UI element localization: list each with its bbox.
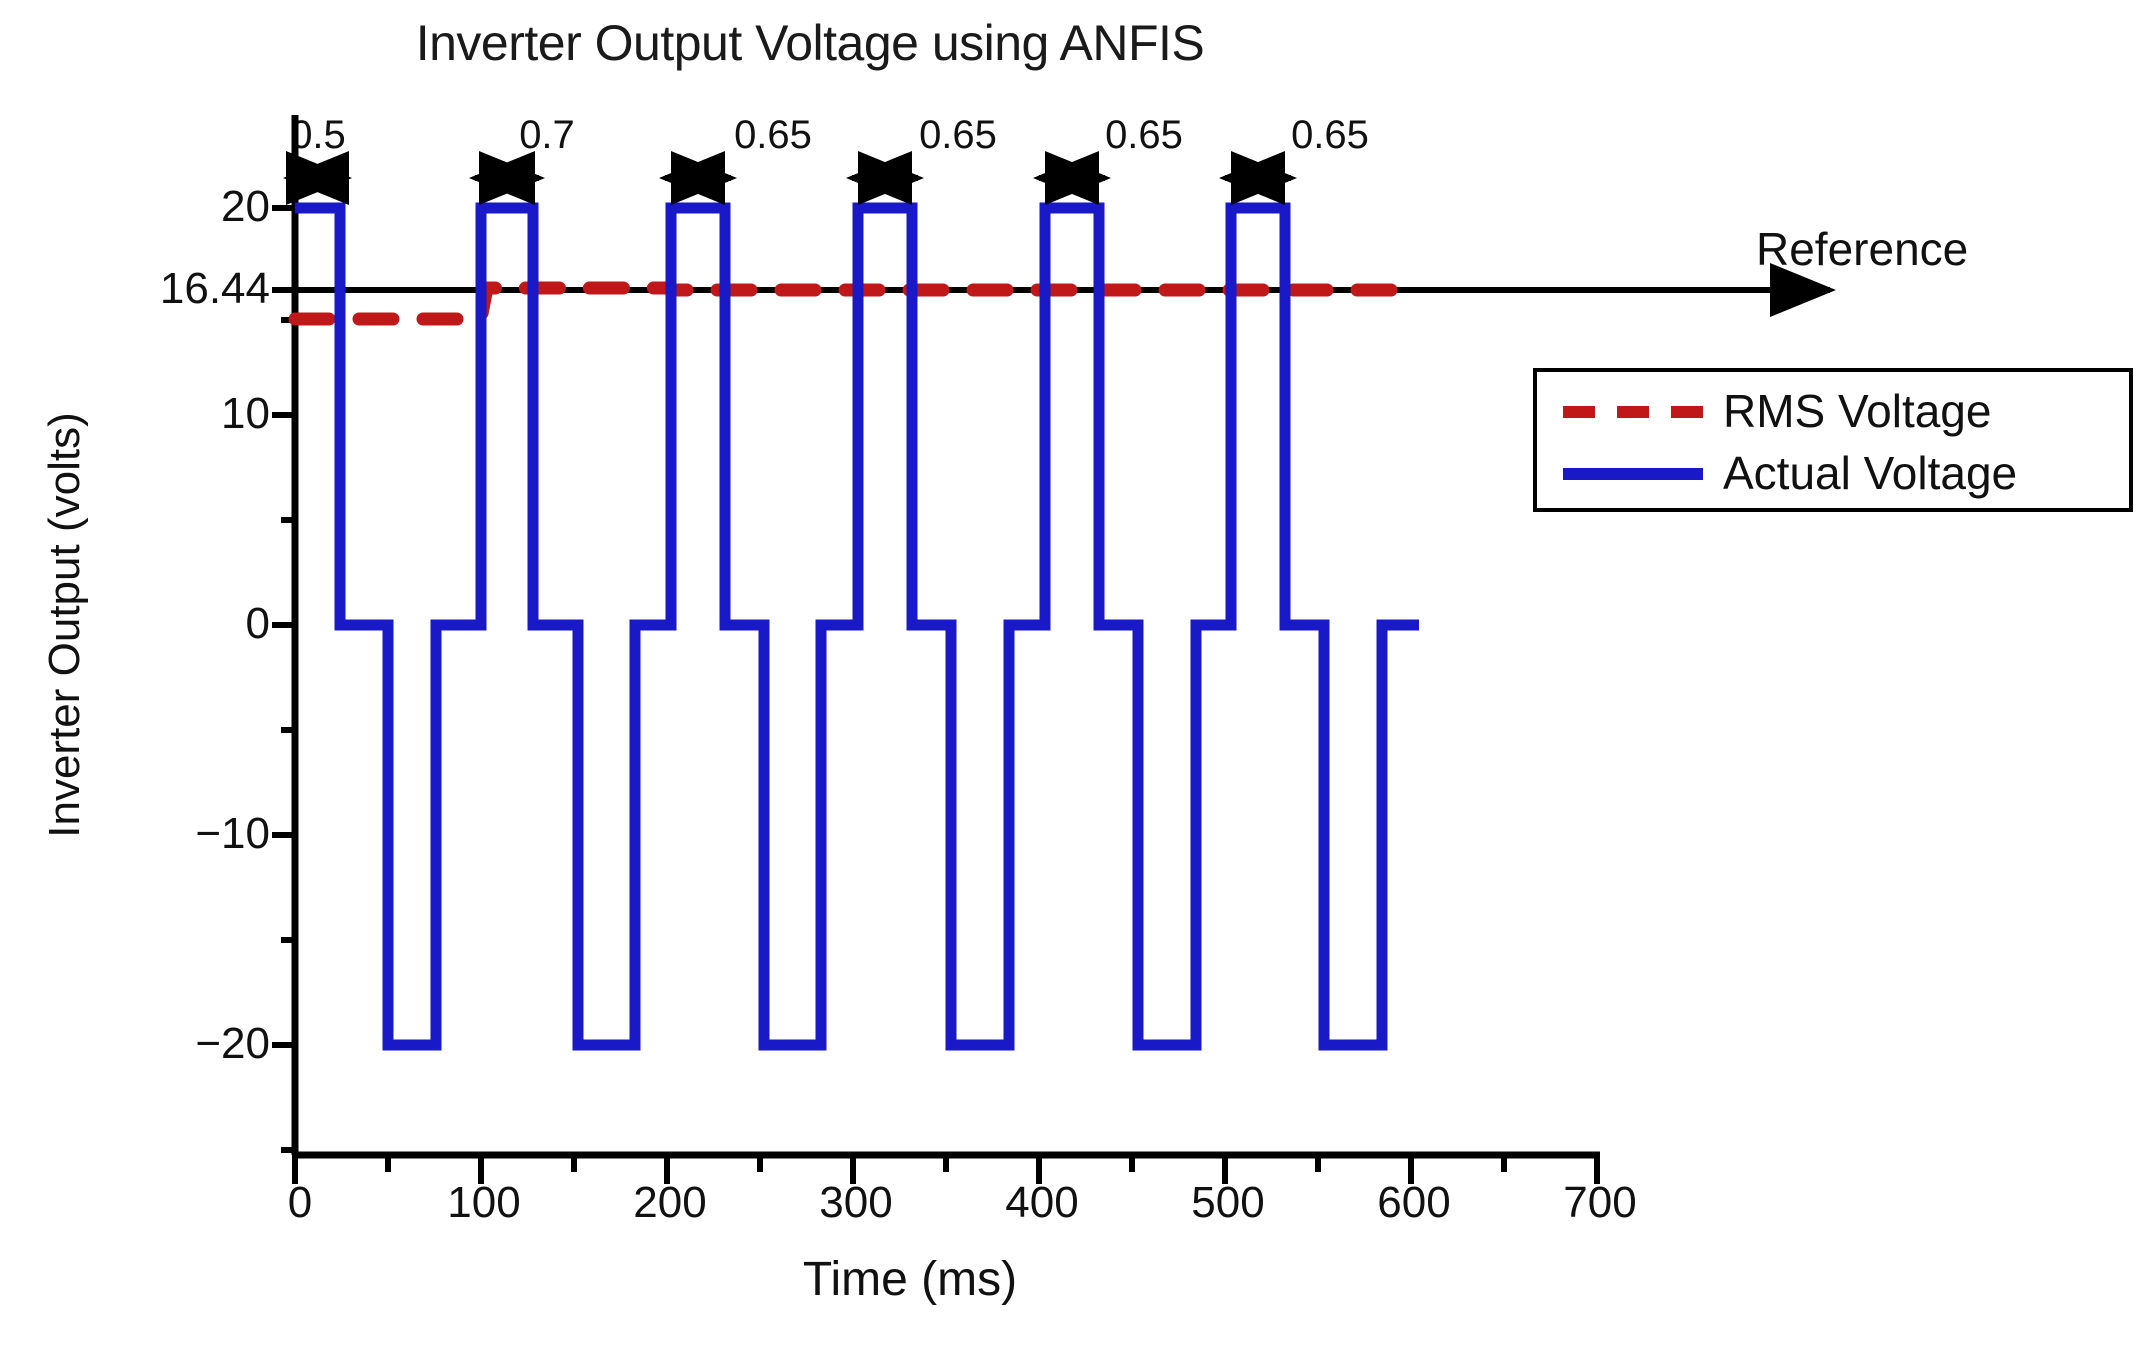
legend-dashed-line-icon bbox=[1563, 406, 1703, 418]
legend-entry-actual[interactable]: Actual Voltage bbox=[1537, 444, 2129, 506]
legend-solid-line-icon bbox=[1563, 468, 1703, 480]
legend-label-rms: RMS Voltage bbox=[1723, 384, 1991, 438]
series-actual-voltage bbox=[295, 208, 1419, 1045]
legend-entry-rms[interactable]: RMS Voltage bbox=[1537, 382, 2129, 444]
chart-figure: Inverter Output Voltage using ANFIS Inve… bbox=[0, 0, 2152, 1346]
legend: RMS Voltage Actual Voltage bbox=[1533, 368, 2133, 512]
legend-label-actual: Actual Voltage bbox=[1723, 446, 2017, 500]
plot-canvas bbox=[0, 0, 2152, 1346]
